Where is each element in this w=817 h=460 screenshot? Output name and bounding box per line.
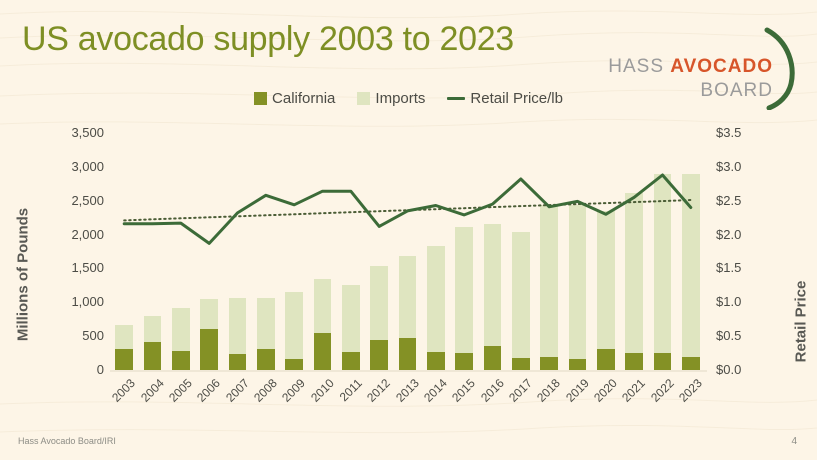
x-axis-tick-2023: 2023 <box>671 376 705 410</box>
y-axis-left-title: Millions of Pounds <box>15 205 32 345</box>
y-axis-right-title: Retail Price <box>793 262 810 382</box>
x-axis-tick-2019: 2019 <box>557 376 591 410</box>
logo-line-1: HASS AVOCADO <box>608 56 773 78</box>
x-axis-tick-2007: 2007 <box>217 376 251 410</box>
y-axis-right-tick: $0.0 <box>716 362 762 377</box>
legend-item-retail-price[interactable]: Retail Price/lb <box>447 90 563 107</box>
legend-swatch-california-icon <box>254 92 267 105</box>
page-title: US avocado supply 2003 to 2023 <box>22 19 514 59</box>
x-axis-tick-2011: 2011 <box>331 376 365 410</box>
line-overlay <box>110 133 705 370</box>
plot-area <box>110 133 705 370</box>
x-axis-tick-2005: 2005 <box>161 376 195 410</box>
y-axis-right-tick: $2.5 <box>716 193 762 208</box>
x-axis-tick-2016: 2016 <box>472 376 506 410</box>
footer-source: Hass Avocado Board/IRI <box>18 436 116 446</box>
legend-item-imports[interactable]: Imports <box>357 90 425 107</box>
y-axis-left-tick: 3,000 <box>44 159 104 174</box>
x-axis-tick-2020: 2020 <box>586 376 620 410</box>
y-axis-left-tick: 3,500 <box>44 125 104 140</box>
x-axis-baseline <box>110 370 707 372</box>
avocado-supply-chart: Millions of Pounds Retail Price 05001,00… <box>0 118 817 418</box>
y-axis-left-tick: 1,500 <box>44 260 104 275</box>
y-axis-right-tick: $3.0 <box>716 159 762 174</box>
x-axis-tick-2018: 2018 <box>529 376 563 410</box>
x-axis-tick-2022: 2022 <box>642 376 676 410</box>
legend-label-california: California <box>272 90 335 107</box>
legend-swatch-imports-icon <box>357 92 370 105</box>
y-axis-right-tick: $3.5 <box>716 125 762 140</box>
legend-label-imports: Imports <box>375 90 425 107</box>
y-axis-right-tick: $1.5 <box>716 260 762 275</box>
slide-canvas: US avocado supply 2003 to 2023 HASS AVOC… <box>0 0 817 460</box>
y-axis-left-tick: 500 <box>44 328 104 343</box>
y-axis-right-tick: $1.0 <box>716 294 762 309</box>
logo-word-hass: HASS <box>608 56 664 77</box>
retail-price-line <box>124 175 691 243</box>
x-axis-tick-2003: 2003 <box>104 376 138 410</box>
x-axis-tick-2006: 2006 <box>189 376 223 410</box>
y-axis-left-tick: 0 <box>44 362 104 377</box>
y-axis-right-tick: $0.5 <box>716 328 762 343</box>
y-axis-right-tick: $2.0 <box>716 227 762 242</box>
x-axis-tick-2010: 2010 <box>302 376 336 410</box>
legend-swatch-retail-price-icon <box>447 97 465 100</box>
y-axis-left-tick: 1,000 <box>44 294 104 309</box>
x-axis-tick-2014: 2014 <box>416 376 450 410</box>
y-axis-left-tick: 2,500 <box>44 193 104 208</box>
x-axis-tick-2009: 2009 <box>274 376 308 410</box>
legend-label-retail-price: Retail Price/lb <box>470 90 563 107</box>
logo-word-avocado: AVOCADO <box>670 56 773 77</box>
chart-legend: California Imports Retail Price/lb <box>0 90 817 107</box>
x-axis-tick-2012: 2012 <box>359 376 393 410</box>
x-axis-tick-2021: 2021 <box>614 376 648 410</box>
x-axis-tick-2004: 2004 <box>132 376 166 410</box>
x-axis-tick-2017: 2017 <box>501 376 535 410</box>
x-axis-tick-2015: 2015 <box>444 376 478 410</box>
x-axis-tick-2013: 2013 <box>387 376 421 410</box>
page-number: 4 <box>791 436 797 447</box>
legend-item-california[interactable]: California <box>254 90 335 107</box>
x-axis-tick-2008: 2008 <box>246 376 280 410</box>
y-axis-left-tick: 2,000 <box>44 227 104 242</box>
